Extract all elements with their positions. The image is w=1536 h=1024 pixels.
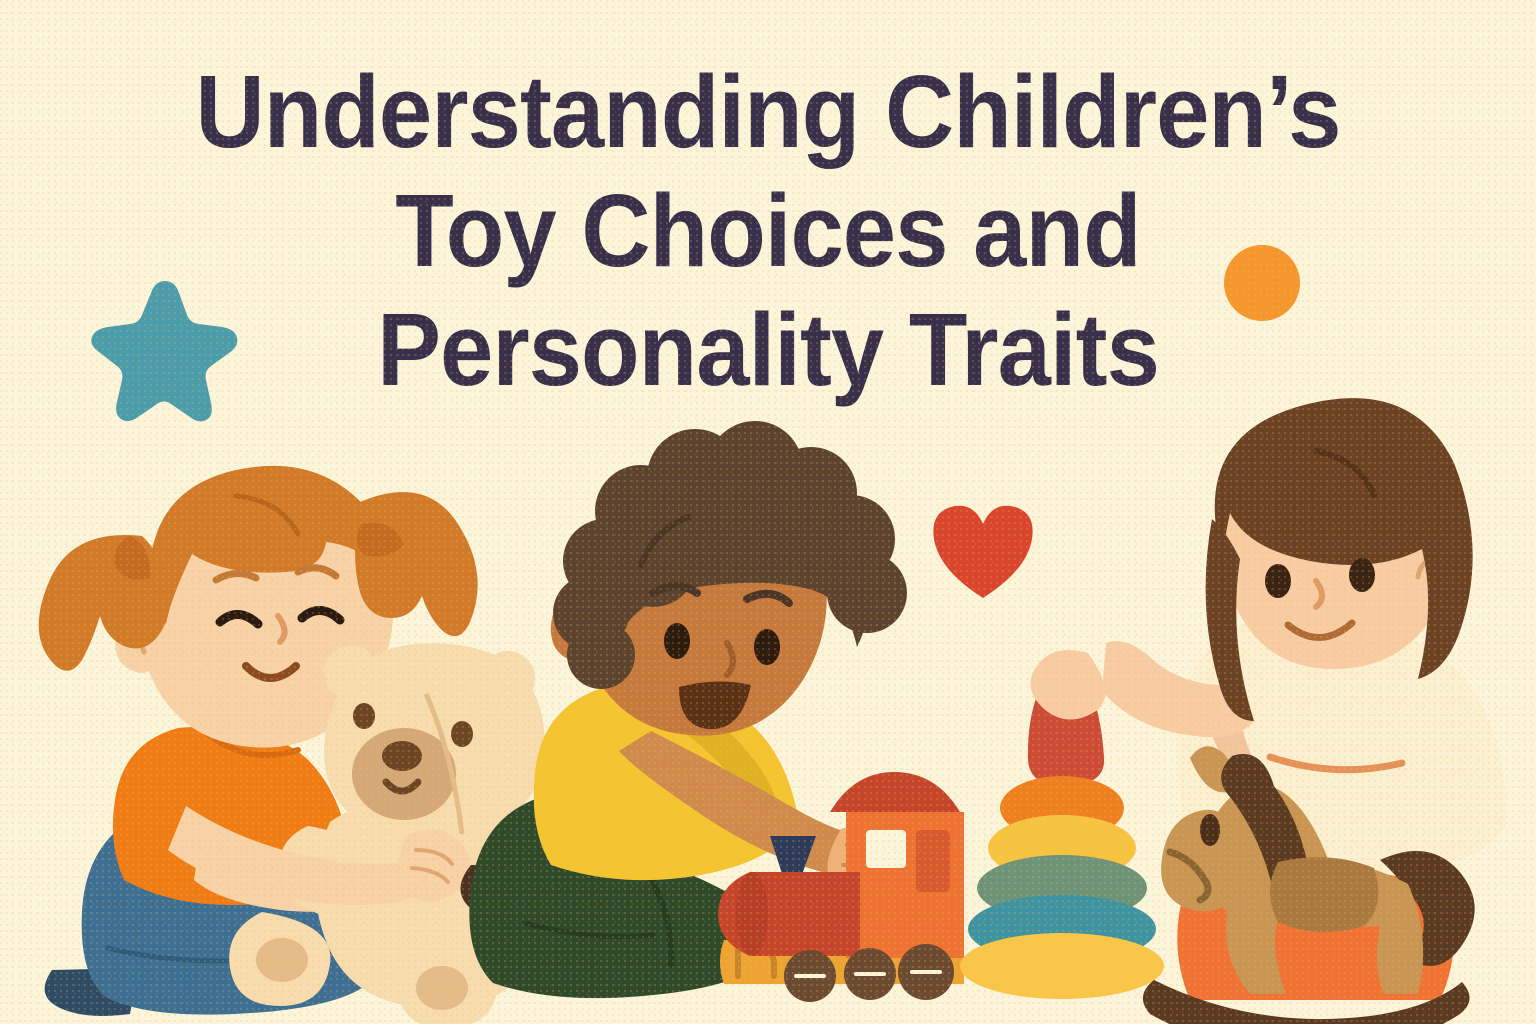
title-line-1: Understanding Children’s: [54, 52, 1482, 171]
eye-right: [1349, 558, 1375, 592]
train-door: [916, 830, 950, 892]
horse-eye: [1200, 814, 1220, 846]
poster-canvas: Understanding Children’s Toy Choices and…: [0, 0, 1536, 1024]
title-line-2: Toy Choices and: [54, 171, 1482, 290]
eye-left: [664, 623, 690, 659]
train-roof: [830, 772, 960, 812]
title-line-3: Personality Traits: [54, 290, 1482, 409]
eye-right: [754, 629, 780, 665]
teddy-nose: [382, 741, 422, 771]
page-title: Understanding Children’s Toy Choices and…: [0, 52, 1536, 409]
eye-left: [1265, 564, 1291, 598]
teddy-eye-left: [353, 703, 375, 729]
train-boiler-front: [736, 872, 768, 956]
horse-saddle: [1270, 857, 1378, 932]
teddy-pad-left: [256, 938, 308, 982]
ring-yellow-base: [960, 933, 1164, 999]
toy-rocking-horse: [1148, 742, 1498, 1024]
heart-icon: [931, 505, 1036, 600]
child-girl-with-teddy: [30, 440, 510, 1024]
train-window: [866, 830, 906, 868]
